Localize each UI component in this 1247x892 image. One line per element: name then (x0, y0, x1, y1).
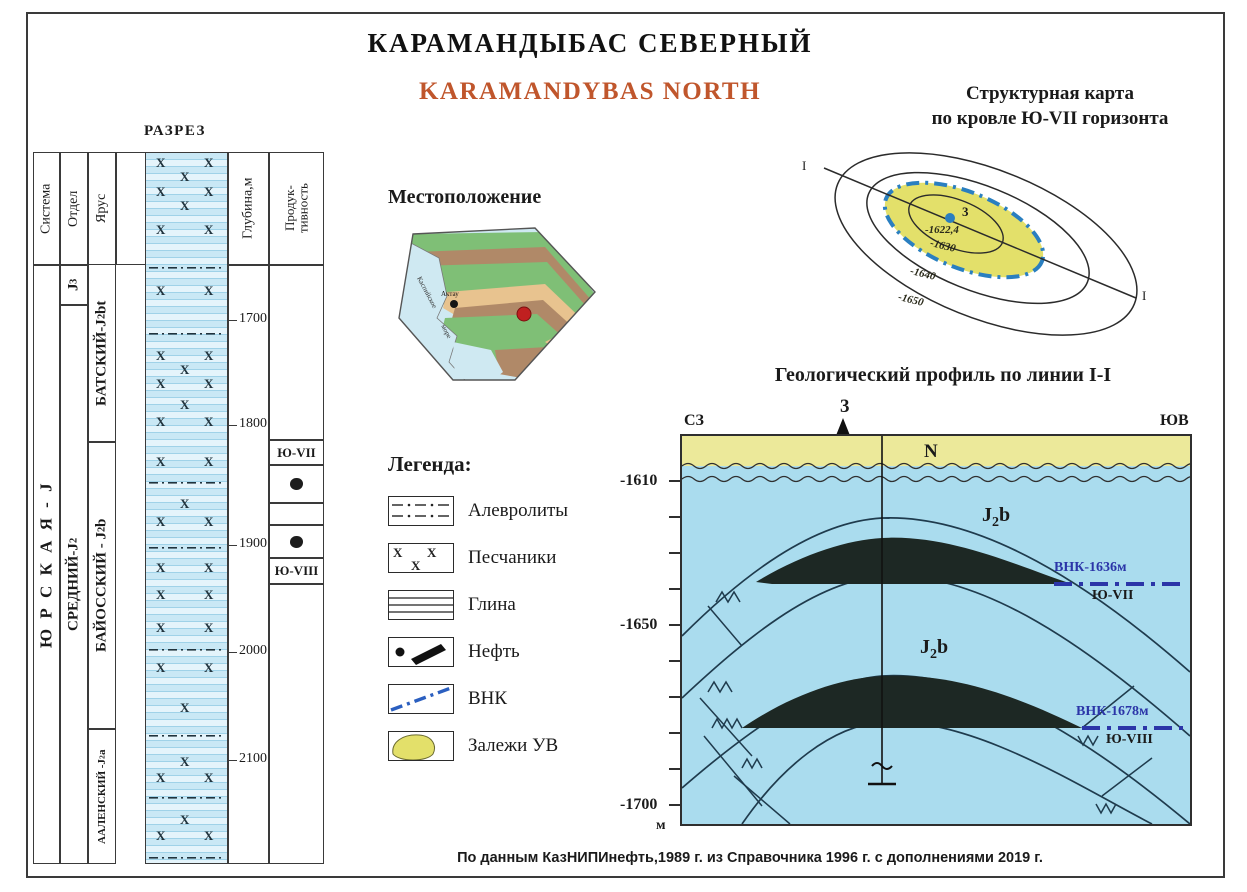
profile-depth-label: -1610 (620, 472, 657, 490)
svg-text:X: X (393, 545, 403, 560)
legend-item: X X X Песчаники (388, 539, 628, 586)
cell-yarus-aalenian-label: ААЛЕНСКИЙ -J2a (89, 730, 115, 863)
city-label: Актау (441, 290, 459, 298)
unit-label-j2b-lower: J2b (920, 636, 948, 663)
geological-profile: N J2b J2b ВНК-1636м Ю-VII ВНК-1678м Ю-VI… (680, 434, 1192, 826)
productivity-blank-bottom (269, 584, 324, 864)
legend-item-label: Глина (468, 594, 516, 616)
sandstone-x-icon: X (156, 771, 165, 784)
fault-line-6 (1096, 758, 1152, 813)
sandstone-icon: X X X (388, 543, 454, 573)
sandstone-x-icon: X (180, 398, 189, 411)
legend-item-label: ВНК (468, 688, 507, 710)
direction-label-nw: СЗ (684, 412, 704, 430)
structural-map: I I 3 -1622,4 -1630 -1640 -1650 (790, 140, 1190, 350)
legend-item: Алевролиты (388, 492, 628, 539)
productivity-label-cell: Ю-VII (269, 440, 324, 465)
cell-yarus-bajocian-label: БАЙОССКИЙ - J2b (89, 443, 115, 728)
oil-body-lower (742, 676, 1082, 728)
sandstone-x-icon: X (156, 661, 165, 674)
productivity-column: Ю-VII Ю-VIII (269, 152, 324, 864)
productivity-blank-top (269, 265, 324, 440)
horizon-line-2-bottom (742, 722, 1152, 824)
sandstone-x-icon: X (180, 813, 189, 826)
siltstone-dash-band (149, 645, 224, 654)
sandstone-x-icon: X (180, 755, 189, 768)
legend-item-label: Нефть (468, 641, 520, 663)
siltstone-dash-band (149, 853, 224, 862)
sandstone-x-icon: X (156, 185, 165, 198)
depth-label: 2100 (239, 751, 267, 767)
city-marker (450, 300, 458, 308)
depth-label: 1700 (239, 311, 267, 327)
sandstone-x-icon: X (204, 661, 213, 674)
structural-map-heading-line2: по кровле Ю-VII горизонта (932, 108, 1169, 129)
productivity-horizon-label: Ю-VIII (275, 563, 319, 579)
clay-icon (388, 590, 454, 620)
header-yarus: Ярус (88, 152, 116, 265)
lithology-track: X X X X X X X X X X X X X X X X X X X X … (145, 152, 228, 864)
sandstone-x-icon: X (204, 771, 213, 784)
owc-icon (388, 684, 454, 714)
sea-inlet-2 (525, 362, 587, 384)
sandstone-x-icon: X (204, 515, 213, 528)
svg-text:X: X (411, 558, 421, 572)
profile-well-number: 3 (840, 396, 850, 418)
header-sistema: Система (33, 152, 60, 265)
horizon-label-lower: Ю-VIII (1106, 732, 1153, 748)
fault-line-4 (734, 759, 790, 824)
productivity-gap-cell (269, 503, 324, 525)
siltstone-dash-band (149, 731, 224, 740)
header-otdel: Отдел (60, 152, 88, 265)
sandstone-x-icon: X (156, 223, 165, 236)
oil-dot-icon (290, 478, 303, 490)
oil-dot-icon (290, 536, 303, 548)
structural-map-heading-line1: Структурная карта (966, 83, 1134, 104)
deposit-area (872, 163, 1056, 296)
fault-line-2 (700, 682, 752, 756)
sandstone-x-icon: X (156, 284, 165, 297)
cell-otdel-middle: СРЕДНИЙ-J2 (60, 305, 88, 864)
well-number-label: 3 (962, 204, 969, 220)
oil-body-upper (756, 538, 1072, 584)
owc-label-lower: ВНК-1678м (1076, 704, 1149, 720)
well-depth-label: -1622,4 (925, 224, 959, 236)
sandstone-x-icon: X (156, 349, 165, 362)
legend-list: Алевролиты X X X Песчаники Глина Нефть (388, 492, 628, 774)
cell-yarus-bathonian-label: БАТСКИЙ-J2bt (89, 265, 115, 442)
sandstone-x-icon: X (156, 621, 165, 634)
sandstone-x-icon: X (204, 185, 213, 198)
depth-tick (228, 652, 237, 653)
sandstone-x-icon: X (204, 156, 213, 169)
sandstone-x-icon: X (180, 497, 189, 510)
fault-line-1 (708, 592, 742, 646)
location-map: Каспийское море Актау (395, 222, 600, 387)
cell-system-jurassic: Ю Р С К А Я - J (33, 265, 60, 864)
location-heading: Местоположение (388, 186, 541, 209)
sandstone-x-icon: X (156, 156, 165, 169)
footer-source-note: По данным КазНИПИнефть,1989 г. из Справо… (300, 850, 1200, 866)
sandstone-x-icon: X (180, 170, 189, 183)
well-marker (945, 213, 955, 223)
cell-otdel-j3-label: J3 (61, 266, 87, 304)
profile-depth-unit: м (656, 818, 666, 834)
legend-item-label: Залежи УВ (468, 735, 558, 757)
unit-label-neogene: N (924, 441, 938, 463)
header-yarus-label: Ярус (89, 153, 115, 264)
page-title-ru: КАРАМАНДЫБАС СЕВЕРНЫЙ (330, 28, 850, 59)
sandstone-x-icon: X (180, 363, 189, 376)
siltstone-dash-band (149, 543, 224, 552)
sandstone-x-icon: X (204, 415, 213, 428)
legend-item: Залежи УВ (388, 727, 628, 774)
direction-label-se: ЮВ (1160, 412, 1189, 430)
legend-heading: Легенда: (388, 452, 472, 477)
sandstone-x-icon: X (156, 829, 165, 842)
sandstone-x-icon: X (204, 621, 213, 634)
cell-yarus-aalenian: ААЛЕНСКИЙ -J2a (88, 729, 116, 864)
depth-label: 1900 (239, 536, 267, 552)
sandstone-x-icon: X (156, 561, 165, 574)
cell-yarus-bathonian: БАТСКИЙ-J2bt (88, 265, 116, 442)
sandstone-x-icon: X (156, 515, 165, 528)
sandstone-x-icon: X (156, 455, 165, 468)
sandstone-x-icon: X (156, 377, 165, 390)
productivity-label-cell: Ю-VIII (269, 558, 324, 584)
stratigraphic-column: Система Отдел Ярус Литология Глубина,м П… (33, 152, 286, 864)
profile-line-I-I (824, 168, 1136, 298)
cell-system-jurassic-label: Ю Р С К А Я - J (34, 266, 59, 863)
razrez-heading: РАЗРЕЗ (110, 123, 240, 140)
page-title-en: KARAMANDYBAS NORTH (330, 78, 850, 106)
oil-icon (388, 637, 454, 667)
legend-item-label: Алевролиты (468, 500, 568, 522)
depth-labels: 1700 1800 1900 2000 2100 (228, 152, 269, 864)
legend-item: ВНК (388, 680, 628, 727)
sandstone-x-icon: X (180, 701, 189, 714)
siltstone-icon (388, 496, 454, 526)
siltstone-dash-band (149, 329, 224, 338)
depth-tick (228, 760, 237, 761)
legend-item-label: Песчаники (468, 547, 556, 569)
productivity-horizon-label: Ю-VII (277, 445, 315, 461)
sandstone-x-icon: X (204, 829, 213, 842)
horizon-label-upper: Ю-VII (1092, 588, 1133, 604)
field-marker (517, 307, 531, 321)
cell-otdel-middle-label: СРЕДНИЙ-J2 (61, 306, 87, 863)
geo-profile-heading: Геологический профиль по линии I-I (648, 364, 1238, 387)
profile-line-label-left: I (802, 158, 806, 174)
sandstone-x-icon: X (180, 199, 189, 212)
siltstone-dash-band (149, 263, 224, 272)
sandstone-x-icon: X (156, 415, 165, 428)
depth-label: 1800 (239, 416, 267, 432)
sandstone-x-icon: X (204, 561, 213, 574)
header-sistema-label: Система (34, 153, 59, 264)
profile-depth-label: -1700 (620, 796, 657, 814)
siltstone-dash-band (149, 793, 224, 802)
siltstone-dash-band (149, 478, 224, 487)
profile-line-label-right: I (1142, 288, 1146, 304)
sandstone-x-icon: X (204, 588, 213, 601)
sandstone-x-icon: X (156, 588, 165, 601)
depth-tick (228, 425, 237, 426)
depth-label: 2000 (239, 643, 267, 659)
depth-tick (228, 320, 237, 321)
depth-tick (228, 545, 237, 546)
sandstone-x-icon: X (204, 223, 213, 236)
sandstone-x-icon: X (204, 377, 213, 390)
sandstone-x-icon: X (204, 349, 213, 362)
sandstone-x-icon: X (204, 284, 213, 297)
owc-label-upper: ВНК-1636м (1054, 560, 1127, 576)
hc-deposit-icon (388, 731, 454, 761)
productivity-oil-cell (269, 465, 324, 503)
sandstone-x-icon: X (204, 455, 213, 468)
structural-map-heading: Структурная карта по кровле Ю-VII горизо… (875, 82, 1225, 131)
header-otdel-label: Отдел (61, 153, 87, 264)
unit-label-j2b-upper: J2b (982, 504, 1010, 531)
productivity-oil-cell (269, 525, 324, 558)
cell-otdel-j3: J3 (60, 265, 88, 305)
legend-item: Нефть (388, 633, 628, 680)
legend-item: Глина (388, 586, 628, 633)
svg-text:X: X (427, 545, 437, 560)
cell-yarus-bajocian: БАЙОССКИЙ - J2b (88, 442, 116, 729)
